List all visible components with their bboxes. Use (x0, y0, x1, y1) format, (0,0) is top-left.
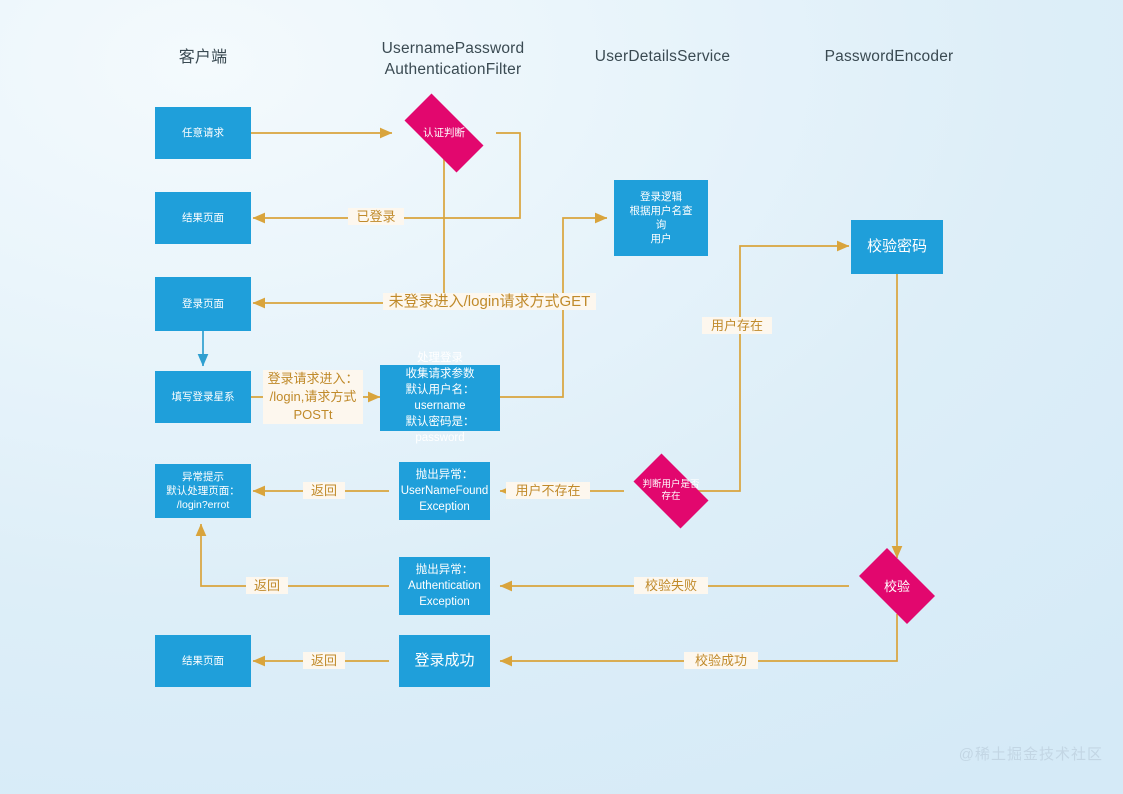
edge-label-user-exists: 用户存在 (702, 317, 772, 334)
lane-header-userdetailsservice: UserDetailsService (570, 46, 755, 67)
node-result-page-top[interactable]: 结果页面 (155, 192, 251, 244)
node-handle-login[interactable]: 处理登录 收集请求参数 默认用户名：username 默认密码是：passwor… (380, 365, 500, 431)
node-result-page-bottom[interactable]: 结果页面 (155, 635, 251, 687)
lane-header-client: 客户端 (148, 47, 258, 68)
node-login-page-label: 登录页面 (179, 297, 227, 311)
node-user-exists-check-label: 判断用户是否 存在 (642, 479, 699, 503)
node-throw-usernamenotfound-label: 抛出异常： UserNameFound Exception (398, 467, 492, 515)
edge-label-not-logged-in: 未登录进入/login请求方式GET (383, 293, 596, 310)
node-user-exists-check[interactable]: 判断用户是否 存在 (624, 463, 718, 519)
node-handle-login-label: 处理登录 收集请求参数 默认用户名：username 默认密码是：passwor… (380, 350, 500, 446)
node-login-logic-label: 登录逻辑 根据用户名查 询 用户 (627, 190, 696, 246)
edge-user-check-to-verify-password (698, 246, 849, 491)
node-verify-password[interactable]: 校验密码 (851, 220, 943, 274)
node-login-success-label: 登录成功 (411, 651, 477, 671)
edge-label-verify-success: 校验成功 (684, 652, 758, 669)
node-verify-label: 校验 (884, 578, 910, 595)
node-login-success[interactable]: 登录成功 (399, 635, 490, 687)
node-throw-usernamenotfound[interactable]: 抛出异常： UserNameFound Exception (399, 462, 490, 520)
lane-header-passwordencoder: PasswordEncoder (800, 46, 978, 67)
node-result-page-bottom-label: 结果页面 (179, 654, 227, 668)
node-verify[interactable]: 校验 (849, 558, 945, 614)
node-verify-password-label: 校验密码 (864, 237, 930, 257)
node-any-request-label: 任意请求 (179, 126, 227, 140)
node-error-page-label: 异常提示 默认处理页面： /login?errot (163, 470, 243, 512)
edge-label-verify-failed: 校验失败 (634, 577, 708, 594)
edge-label-user-not-exists: 用户不存在 (506, 482, 590, 499)
node-result-page-top-label: 结果页面 (179, 211, 227, 225)
watermark: @稀土掘金技术社区 (959, 743, 1103, 764)
node-fill-login-info-label: 填写登录星系 (169, 390, 238, 404)
edge-label-return-3: 返回 (303, 652, 345, 669)
node-any-request[interactable]: 任意请求 (155, 107, 251, 159)
node-error-page[interactable]: 异常提示 默认处理页面： /login?errot (155, 464, 251, 518)
node-login-logic[interactable]: 登录逻辑 根据用户名查 询 用户 (614, 180, 708, 256)
node-auth-check[interactable]: 认证判断 (392, 106, 496, 160)
node-throw-authentication-label: 抛出异常： Authentication Exception (405, 562, 484, 610)
node-auth-check-label: 认证判断 (423, 127, 465, 140)
diagram-canvas: 客户端 UsernamePassword AuthenticationFilte… (0, 0, 1123, 794)
node-fill-login-info[interactable]: 填写登录星系 (155, 371, 251, 423)
edge-auth-check-to-login-page (253, 159, 444, 303)
lane-header-filter: UsernamePassword AuthenticationFilter (355, 38, 551, 80)
edge-throw-auth-to-error-page (201, 524, 389, 586)
edge-label-return-2: 返回 (246, 577, 288, 594)
edge-label-login-request: 登录请求进入： /login,请求方式 POSTt (263, 370, 363, 424)
node-throw-authentication[interactable]: 抛出异常： Authentication Exception (399, 557, 490, 615)
edge-label-logged-in: 已登录 (348, 208, 404, 225)
node-login-page[interactable]: 登录页面 (155, 277, 251, 331)
edge-label-return-1: 返回 (303, 482, 345, 499)
